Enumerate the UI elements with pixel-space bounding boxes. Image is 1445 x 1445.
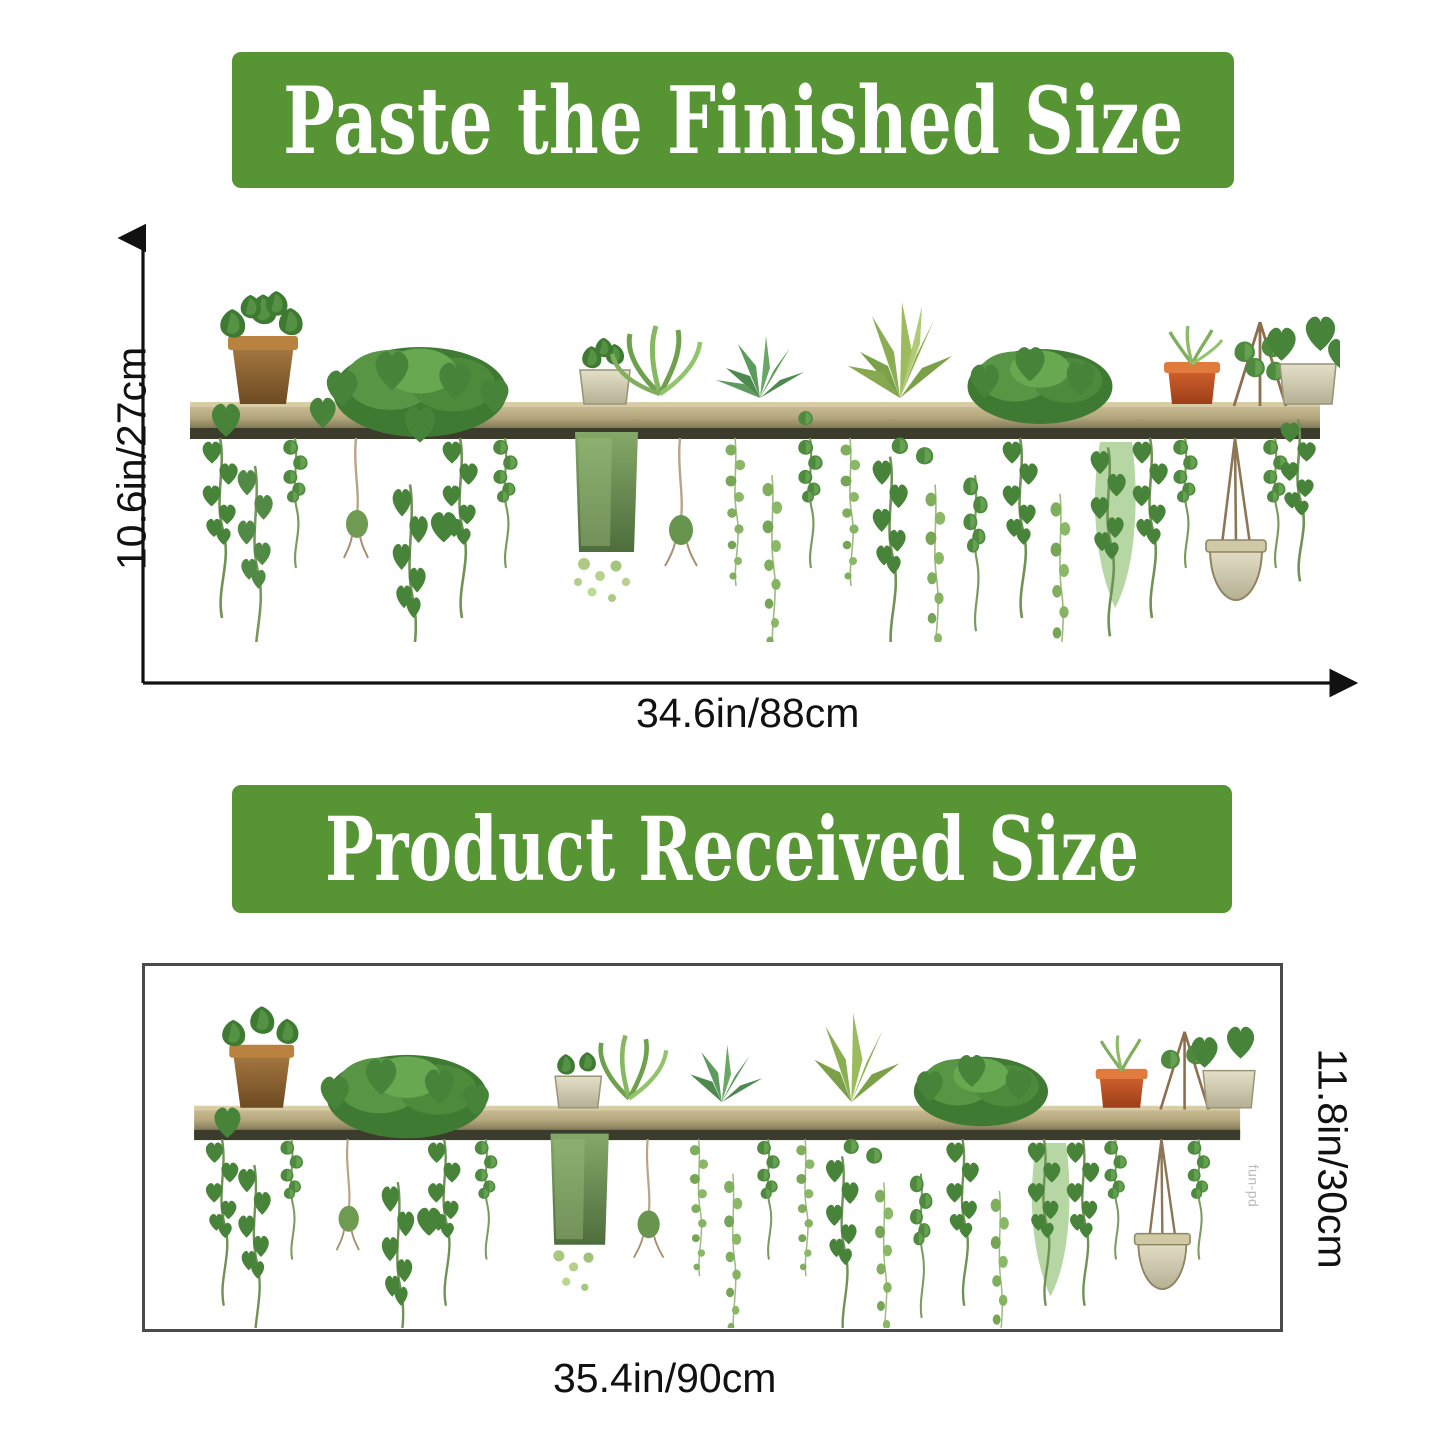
watermark-text: fun-pd (1245, 1165, 1261, 1208)
finished-size-width-label: 34.6in/88cm (636, 690, 859, 737)
banner-paste-finished-size: Paste the Finished Size (232, 52, 1234, 188)
received-size-width-label: 35.4in/90cm (553, 1355, 776, 1402)
finished-size-height-label: 10.6in/27cm (109, 299, 156, 619)
page-canvas: Paste the Finished Size (0, 0, 1445, 1445)
plant-shelf-artwork-finished (160, 252, 1340, 642)
banner-product-received-size: Product Received Size (232, 785, 1232, 913)
plant-shelf-artwork-received (146, 967, 1279, 1328)
banner-product-received-size-label: Product Received Size (325, 797, 1139, 901)
received-size-height-label: 11.8in/30cm (1309, 999, 1356, 1319)
banner-paste-finished-size-label: Paste the Finished Size (283, 66, 1183, 175)
